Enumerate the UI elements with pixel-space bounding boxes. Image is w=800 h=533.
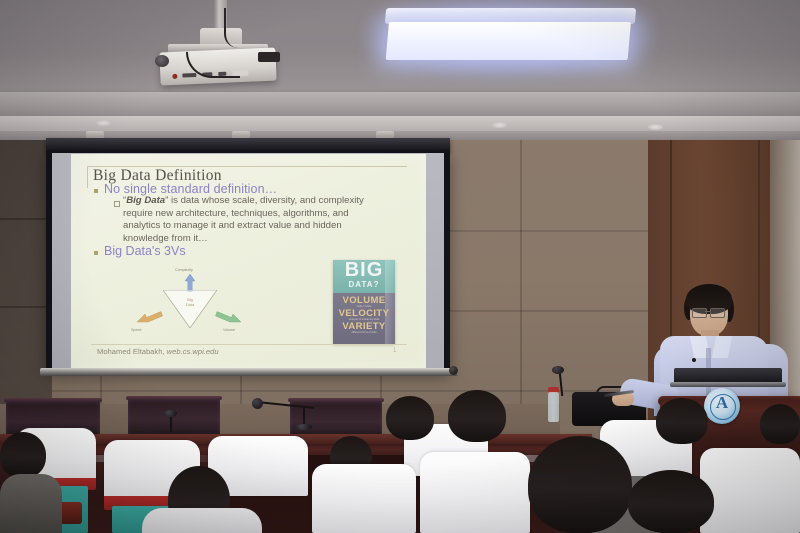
screen-pull-knob[interactable] bbox=[449, 366, 458, 375]
arrow-right-icon bbox=[215, 310, 241, 328]
audience-head-front bbox=[528, 436, 632, 533]
diagram-center-label: Big Data bbox=[176, 298, 204, 307]
ceiling-soffit bbox=[0, 92, 800, 118]
big-data-poster-image: BIG DATA? VOLUME scale of data VELOCITY … bbox=[333, 260, 395, 344]
diagram-label-top: Complexity bbox=[175, 268, 193, 272]
glasses-bridge bbox=[705, 311, 710, 312]
microphone-head bbox=[252, 398, 263, 409]
audience-head bbox=[386, 396, 434, 440]
microphone-base bbox=[296, 424, 312, 430]
chair-cover bbox=[420, 452, 530, 533]
slide-page-number: 1 bbox=[393, 348, 396, 354]
audience-head bbox=[656, 398, 708, 444]
audience-head bbox=[760, 404, 800, 444]
audience-head bbox=[0, 432, 46, 478]
audience-head bbox=[448, 390, 506, 442]
slide-bullet-1: No single standard definition… bbox=[104, 182, 277, 196]
recessed-downlight bbox=[492, 122, 507, 128]
ceiling-light-panel bbox=[375, 2, 642, 64]
square-bullet-icon bbox=[94, 189, 98, 193]
subbullet-emphasis: Big Data bbox=[126, 195, 165, 206]
diagram-label-left: Speed bbox=[131, 328, 141, 332]
fluorescent-tube bbox=[386, 22, 631, 60]
laptop-base bbox=[670, 382, 786, 387]
ceiling-soffit-lower bbox=[0, 116, 800, 132]
slide-bullet-2: Big Data's 3Vs bbox=[104, 244, 186, 258]
dais-chair-top bbox=[4, 398, 102, 402]
podium-logo-letter: A bbox=[713, 393, 731, 413]
dais-chair-top bbox=[126, 396, 222, 400]
audience-shoulders bbox=[0, 474, 62, 533]
poster-caption-variety: different forms of data bbox=[333, 331, 395, 334]
projector-cable bbox=[224, 8, 250, 48]
slide-subbullet-1: “Big Data” is data whose scale, diversit… bbox=[123, 195, 385, 245]
footer-site: web.cs.wpi.edu bbox=[167, 347, 219, 356]
microphone-stem bbox=[170, 416, 172, 432]
footer-rule bbox=[91, 344, 407, 345]
hollow-square-bullet-icon bbox=[114, 201, 120, 207]
triangle-shape bbox=[163, 290, 217, 328]
square-bullet-icon bbox=[94, 251, 98, 255]
recessed-downlight bbox=[96, 120, 111, 126]
projector-cable-connector bbox=[258, 52, 280, 62]
chair-cover bbox=[700, 448, 800, 533]
projected-slide: Big Data Definition No single standard d… bbox=[71, 154, 426, 368]
poster-subhead: DATA? bbox=[336, 280, 392, 289]
screen-weight-bar bbox=[40, 368, 458, 376]
poster-headline: BIG bbox=[336, 260, 392, 282]
title-accent-bar bbox=[87, 166, 88, 188]
recessed-downlight bbox=[648, 124, 663, 130]
glasses-lens-left bbox=[692, 308, 707, 318]
chair-cover bbox=[312, 464, 416, 533]
slide-footer: Mohamed Eltabakh, web.cs.wpi.edu bbox=[97, 347, 219, 356]
three-vs-diagram: Complexity Speed Volume Big Data bbox=[131, 266, 249, 344]
dais-chair-top bbox=[288, 398, 384, 402]
microphone-head bbox=[552, 366, 564, 374]
audience-head-front bbox=[628, 470, 714, 533]
microphone-head bbox=[164, 410, 177, 417]
arrow-left-icon bbox=[137, 310, 163, 328]
glasses-lens-right bbox=[710, 308, 725, 318]
wood-wall-panel-left bbox=[0, 140, 52, 440]
lecture-hall-photo: Big Data Definition No single standard d… bbox=[0, 0, 800, 533]
water-bottle bbox=[548, 392, 559, 422]
diagram-label-right: Volume bbox=[223, 328, 235, 332]
footer-author: Mohamed Eltabakh, bbox=[97, 347, 165, 356]
projector-lens bbox=[155, 55, 169, 67]
audience-shoulders bbox=[142, 508, 262, 533]
lapel-microphone-icon bbox=[692, 358, 696, 362]
